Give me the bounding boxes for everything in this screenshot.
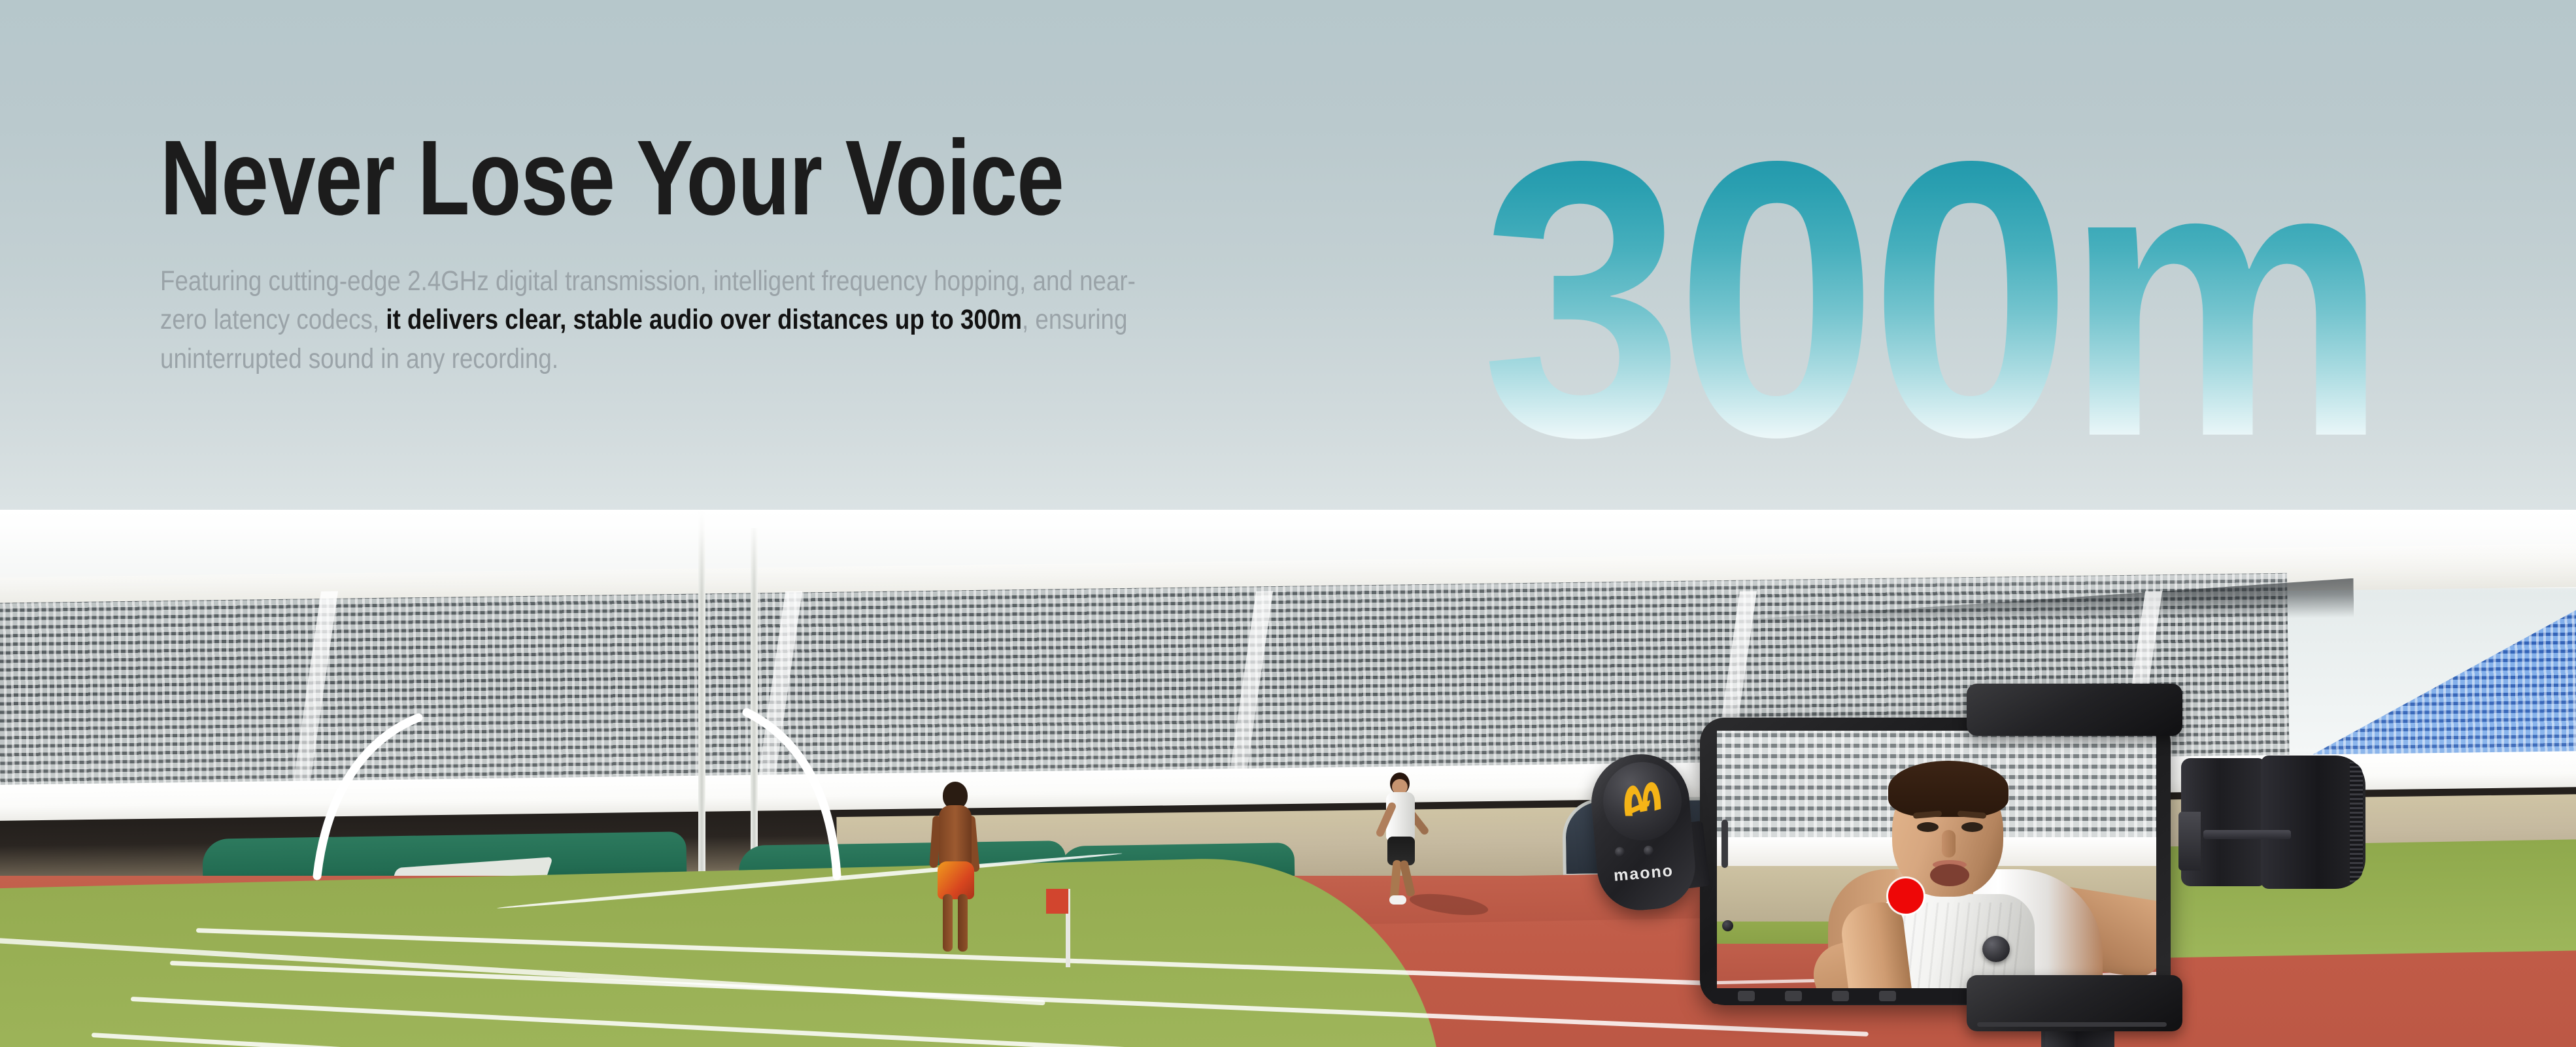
runner-foreground (927, 782, 979, 925)
copy-block: Never Lose Your Voice Featuring cutting-… (160, 124, 1337, 378)
feature-description: Featuring cutting-edge 2.4GHz digital tr… (160, 262, 1155, 378)
gimbal-motor-tab (2178, 812, 2201, 871)
runner-shorts (938, 861, 974, 899)
maono-wireless-receiver: maono (1594, 754, 1706, 910)
gimbal-motor-ridge (2203, 830, 2291, 839)
smartphone-gimbal-rig (1589, 680, 2413, 1047)
gimbal-motor-barrel (2261, 756, 2365, 889)
range-stat-value: 300m (1481, 139, 2380, 460)
athlete-mouth (1930, 864, 1969, 886)
athlete-eye (1917, 822, 1939, 832)
description-highlight: it delivers clear, stable audio over dis… (386, 304, 1022, 335)
gimbal-rail-notch (1785, 991, 1802, 1001)
athlete-nose (1942, 830, 1956, 857)
clip-on-lavalier-mic-icon (1982, 936, 2010, 962)
stadium-pole (751, 528, 758, 893)
gimbal-clamp-top[interactable] (1967, 684, 2182, 736)
runner-leg (1399, 859, 1415, 897)
earpiece-speaker (1721, 820, 1728, 868)
runner-torso (939, 805, 972, 868)
record-dot-icon[interactable] (1888, 878, 1924, 914)
runner-leg (943, 894, 953, 952)
smartphone-screen[interactable] (1717, 731, 2156, 992)
page-title: Never Lose Your Voice (160, 124, 1102, 231)
athlete-eye (1961, 822, 1983, 832)
front-camera-icon (1722, 920, 1733, 931)
gimbal-rail-notch (1738, 991, 1755, 1001)
runner-shoe (1389, 895, 1406, 905)
gimbal-rail-notch (1879, 991, 1896, 1001)
maono-lightning-m-icon (1618, 777, 1667, 822)
gimbal-clamp-bottom[interactable] (1967, 975, 2182, 1031)
product-feature-banner: maono Never Lose Your Voice Featuring cu… (0, 0, 2576, 1047)
runner-background (1378, 773, 1424, 897)
stadium-pole (698, 510, 705, 889)
athlete-hair (1888, 761, 2008, 817)
runner-leg (958, 894, 968, 952)
corner-flag (1046, 889, 1068, 914)
gimbal-rail-notch (1832, 991, 1849, 1001)
